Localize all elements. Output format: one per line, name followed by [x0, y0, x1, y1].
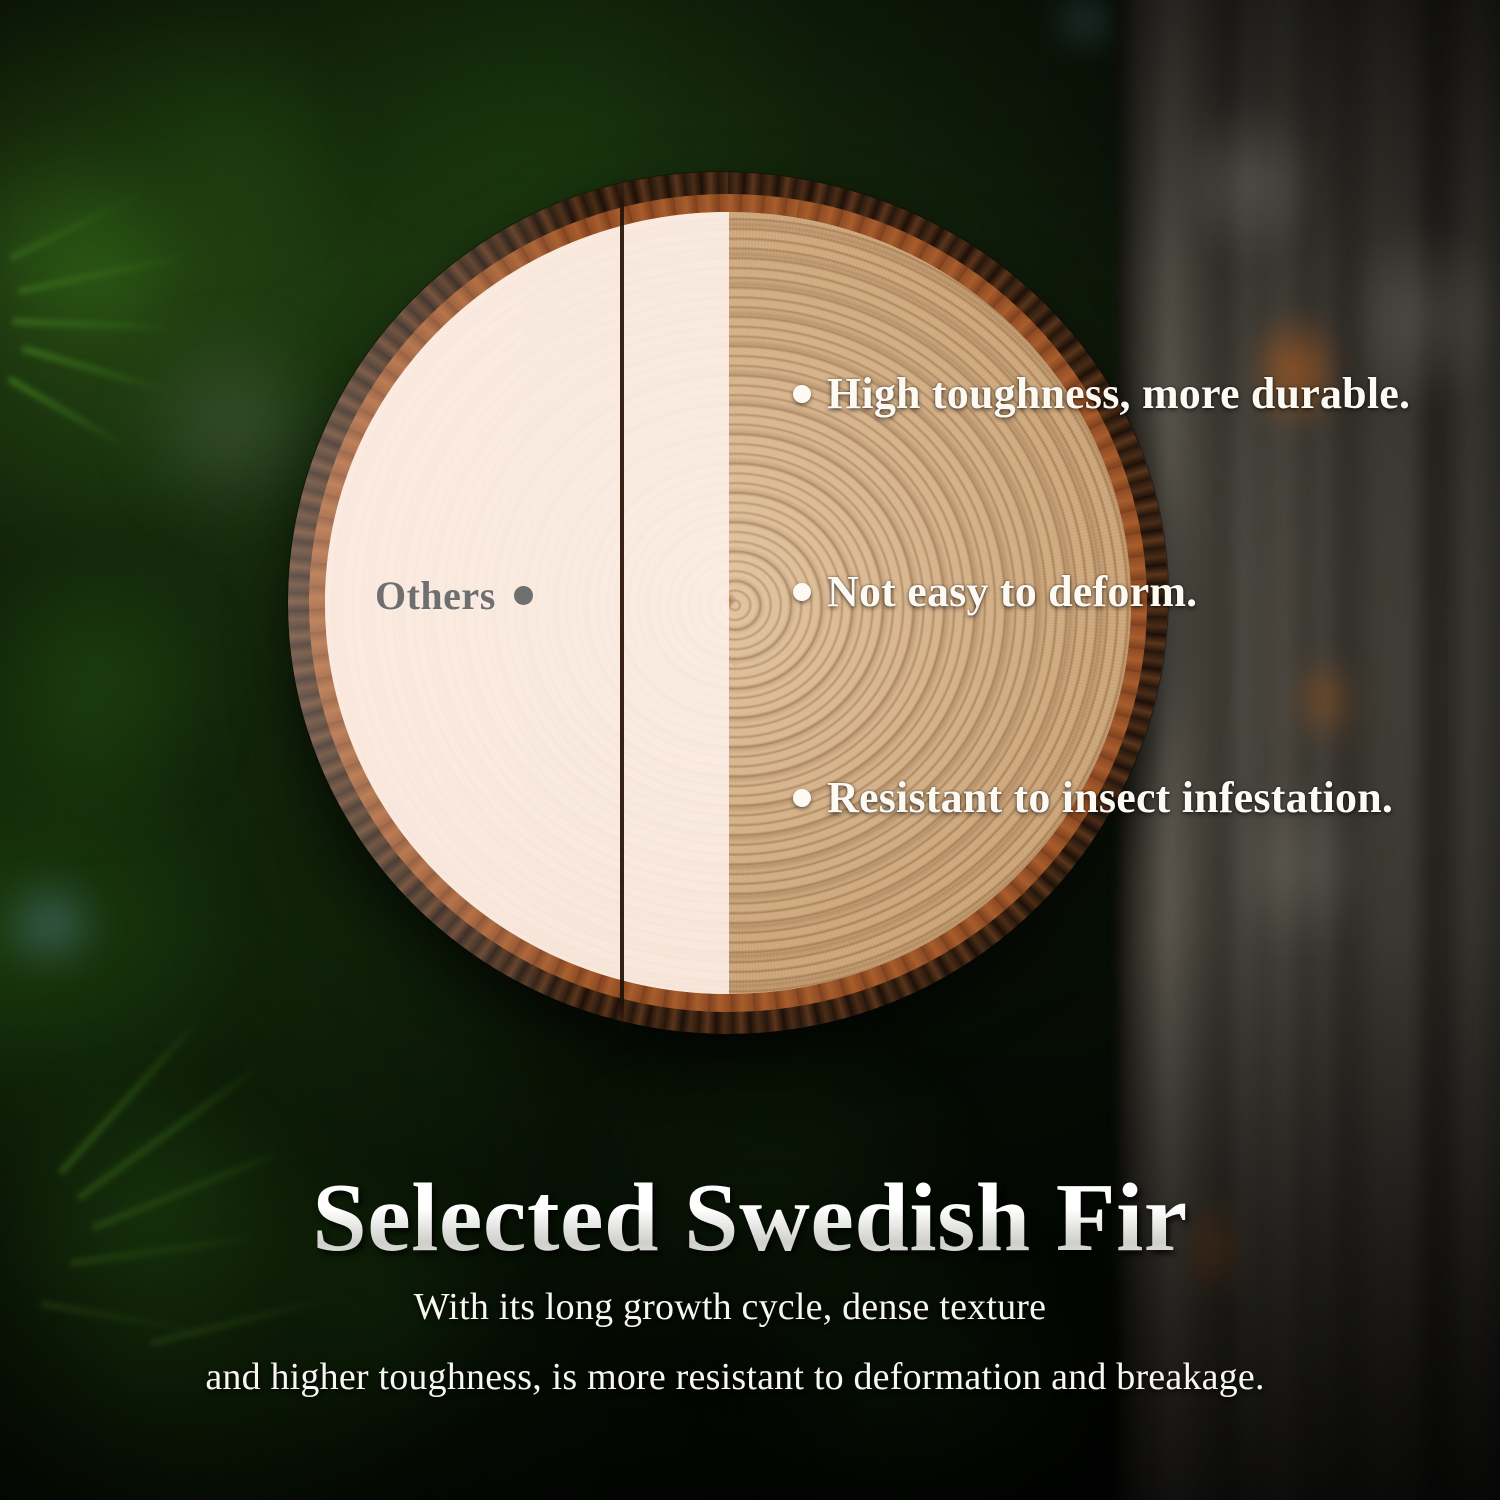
benefit-item: Not easy to deform.: [793, 566, 1197, 617]
subtitle-line-2: and higher toughness, is more resistant …: [0, 1355, 1500, 1399]
bullet-dot-icon: [514, 586, 533, 605]
half-divider-line: [620, 176, 624, 1034]
benefit-text: High toughness, more durable.: [827, 368, 1410, 419]
bullet-dot-icon: [793, 583, 811, 601]
benefit-text: Not easy to deform.: [827, 566, 1197, 617]
others-label-text: Others: [375, 572, 496, 619]
bullet-dot-icon: [793, 789, 811, 807]
benefit-item: High toughness, more durable.: [793, 368, 1410, 419]
page-title: Selected Swedish Fir: [0, 1162, 1500, 1274]
benefit-item: Resistant to insect infestation.: [793, 772, 1393, 823]
subtitle-line-1: With its long growth cycle, dense textur…: [0, 1285, 1500, 1329]
others-label: Others: [375, 572, 533, 619]
benefit-text: Resistant to insect infestation.: [827, 772, 1393, 823]
product-feature-banner: Others High toughness, more durable. Not…: [0, 0, 1500, 1500]
bullet-dot-icon: [793, 385, 811, 403]
